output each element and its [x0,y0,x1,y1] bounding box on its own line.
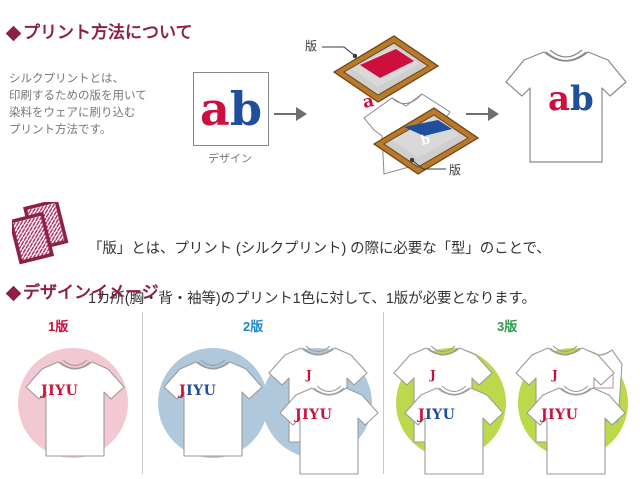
page-title-design-image-label: デザインイメージ [23,283,159,302]
diamond-bullet-icon-2 [6,286,22,302]
group-3-shirt-4 [523,378,629,478]
screen-print-exploded-diagram: b a [330,32,480,182]
group-2-shirt-3-print: JIYU [295,408,332,422]
group-2-shirt-1 [160,352,266,464]
group-label-1: 1版 [48,316,68,335]
result-shirt-print: ab [548,82,594,116]
design-letter-a: a [200,82,230,136]
leader-line-bottom [408,156,452,178]
arrow-design-to-plates-icon [274,107,307,121]
group-1-shirt-1 [22,352,128,464]
arrow-plates-to-shirt-icon [466,107,499,121]
page-title-print-method: プリント方法について [8,24,193,41]
group-2-shirt-3 [276,378,382,478]
group-3-shirt-2-print-part2: IYU [425,407,455,423]
group-divider-1 [142,312,143,474]
design-box-caption: デザイン [193,150,267,166]
group-label-2: 2版 [243,316,263,335]
page-title-print-method-label: プリント方法について [23,23,193,42]
group-2-shirt-1-print-part2: IYU [186,383,216,399]
page-title-design-image: デザインイメージ [8,284,159,301]
banner-line-1: 「版」とは、プリント (シルクプリント) の際に必要な「型」のことで、 [88,237,633,262]
group-2-shirt-1-print: JIYU [179,384,216,398]
plate-label-top: 版 [305,37,317,54]
result-letter-a: a [548,79,570,119]
banner-description: 「版」とは、プリント (シルクプリント) の際に必要な「型」のことで、 1カ所(… [88,212,633,337]
diamond-bullet-icon [6,26,22,42]
print-method-intro-text: シルクプリントとは、 印刷するための版を用いて 染料をウェアに刷り込む プリント… [9,71,179,139]
plate-label-bottom: 版 [449,161,461,178]
group-divider-2 [383,312,384,474]
group-3-shirt-2 [401,378,507,478]
design-preview-box: ab [193,72,269,146]
screen-plates-icon [12,202,76,266]
group-1-shirt-1-print: JIYU [41,384,78,398]
design-letter-b: b [230,82,262,136]
group-label-3: 3版 [497,316,517,335]
group-3-shirt-4-print: JIYU [541,408,578,422]
group-3-shirt-2-print: JIYU [418,408,455,422]
result-letter-b: b [570,79,594,119]
banner-line-2: 1カ所(胸・背・袖等)のプリント1色に対して、1版が必要となります。 [88,287,633,312]
